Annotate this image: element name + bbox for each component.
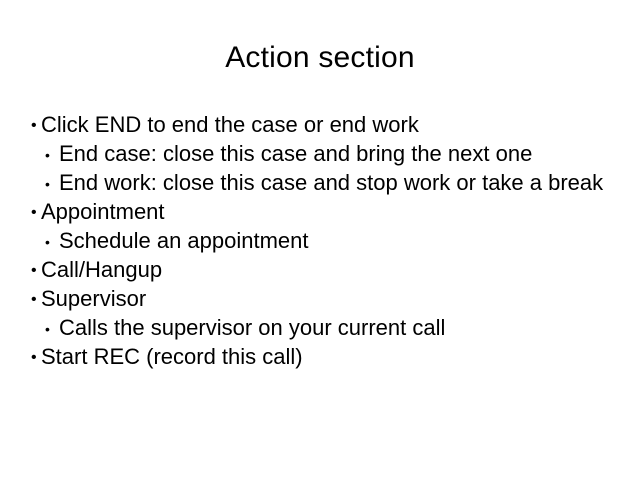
list-item: • End case: close this case and bring th… — [26, 139, 626, 168]
list-item-label: Click END to end the case or end work — [41, 110, 626, 139]
list-item: • Calls the supervisor on your current c… — [26, 313, 626, 342]
bullet-icon: • — [31, 256, 41, 285]
list-item: • Click END to end the case or end work — [26, 110, 626, 139]
list-item-label: End case: close this case and bring the … — [59, 139, 626, 168]
list-item: • Call/Hangup — [26, 255, 626, 284]
list-item: • Start REC (record this call) — [26, 342, 626, 371]
page-title: Action section — [0, 40, 640, 76]
list-item-label: Appointment — [41, 197, 626, 226]
bullet-icon: • — [31, 343, 41, 372]
list-item: • Appointment — [26, 197, 626, 226]
list-item-label: End work: close this case and stop work … — [59, 168, 626, 197]
slide: Action section • Click END to end the ca… — [0, 0, 640, 480]
list-item-label: Start REC (record this call) — [41, 342, 626, 371]
bullet-icon: • — [31, 111, 41, 140]
bullet-icon: • — [45, 170, 54, 199]
list-item: • Supervisor — [26, 284, 626, 313]
bullet-icon: • — [31, 285, 41, 314]
bullet-icon: • — [45, 141, 54, 170]
bullet-list: • Click END to end the case or end work … — [26, 110, 626, 371]
list-item: • Schedule an appointment — [26, 226, 626, 255]
list-item-label: Schedule an appointment — [59, 226, 626, 255]
bullet-icon: • — [45, 315, 54, 344]
list-item-label: Call/Hangup — [41, 255, 626, 284]
bullet-icon: • — [45, 228, 54, 257]
bullet-icon: • — [31, 198, 41, 227]
list-item-label: Calls the supervisor on your current cal… — [59, 313, 626, 342]
list-item: • End work: close this case and stop wor… — [26, 168, 626, 197]
list-item-label: Supervisor — [41, 284, 626, 313]
